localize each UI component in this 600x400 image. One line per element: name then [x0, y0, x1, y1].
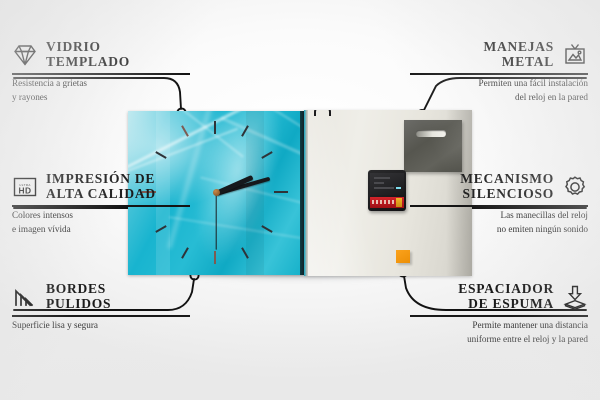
feature-title: MECANISMO — [460, 172, 554, 187]
polished-edges-icon — [12, 284, 38, 310]
ultra-hd-icon: ultra HD — [12, 174, 38, 200]
picture-hanger-icon — [562, 42, 588, 68]
feature-desc: Las manecillas del reloj — [410, 210, 588, 221]
feature-title: PULIDOS — [46, 297, 111, 312]
feature-desc: e imagen vívida — [12, 224, 190, 235]
feature-title: ALTA CALIDAD — [46, 187, 156, 202]
feature-title: MANEJAS — [483, 40, 554, 55]
feature-title: SILENCIOSO — [460, 187, 554, 202]
foam-spacer — [396, 250, 410, 263]
metal-hanger-plate — [404, 120, 462, 172]
panel-left-edge — [304, 110, 308, 276]
mechanism-housing — [370, 173, 404, 195]
feature-hangers: MANEJAS METAL Permiten una fácil instala… — [410, 40, 588, 103]
hour-tick — [274, 191, 288, 193]
feature-mechanism: MECANISMO SILENCIOSO Las manecillas del … — [410, 172, 588, 235]
feature-title: BORDES — [46, 282, 111, 297]
divider — [410, 205, 588, 207]
feature-desc: Permite mantener una distancia — [410, 320, 588, 331]
feature-title: METAL — [483, 55, 554, 70]
svg-text:HD: HD — [19, 185, 32, 195]
feature-title: IMPRESIÓN DE — [46, 172, 156, 187]
feature-desc: Colores intensos — [12, 210, 190, 221]
feature-desc: y rayones — [12, 92, 190, 103]
clock-mechanism — [368, 170, 406, 211]
hour-tick — [214, 121, 216, 134]
feature-desc: uniforme entre el reloj y la pared — [410, 334, 588, 345]
feature-print: ultra HD IMPRESIÓN DE ALTA CALIDAD Color… — [12, 172, 190, 235]
panel-seam — [246, 111, 264, 275]
feature-glass: VIDRIO TEMPLADO Resistencia a grietas y … — [12, 40, 190, 103]
mechanism-hanging-loop — [314, 110, 331, 116]
foam-spacer-icon — [562, 284, 588, 310]
feature-desc: del reloj en la pared — [410, 92, 588, 103]
feature-title: ESPACIADOR — [458, 282, 554, 297]
feature-foam: ESPACIADOR DE ESPUMA Permite mantener un… — [410, 282, 588, 345]
battery-terminal — [396, 198, 402, 207]
divider — [12, 315, 190, 317]
divider — [410, 73, 588, 75]
infographic-canvas: VIDRIO TEMPLADO Resistencia a grietas y … — [0, 0, 600, 400]
feature-edges: BORDES PULIDOS Superficie lisa y segura — [12, 282, 190, 331]
feature-title: DE ESPUMA — [458, 297, 554, 312]
feature-desc: Permiten una fácil instalación — [410, 78, 588, 89]
feature-title: VIDRIO — [46, 40, 130, 55]
battery — [370, 197, 404, 208]
feature-title: TEMPLADO — [46, 55, 130, 70]
feature-desc: Resistencia a grietas — [12, 78, 190, 89]
hanger-slot — [416, 130, 446, 137]
hour-tick — [214, 251, 216, 264]
diamond-icon — [12, 42, 38, 68]
divider — [410, 315, 588, 317]
battery-label — [372, 200, 396, 204]
divider — [12, 205, 190, 207]
feature-desc: Superficie lisa y segura — [12, 320, 190, 331]
hands-hub — [213, 189, 220, 196]
second-hand — [215, 194, 216, 250]
feature-desc: no emiten ningún sonido — [410, 224, 588, 235]
gear-icon — [562, 174, 588, 200]
divider — [12, 73, 190, 75]
